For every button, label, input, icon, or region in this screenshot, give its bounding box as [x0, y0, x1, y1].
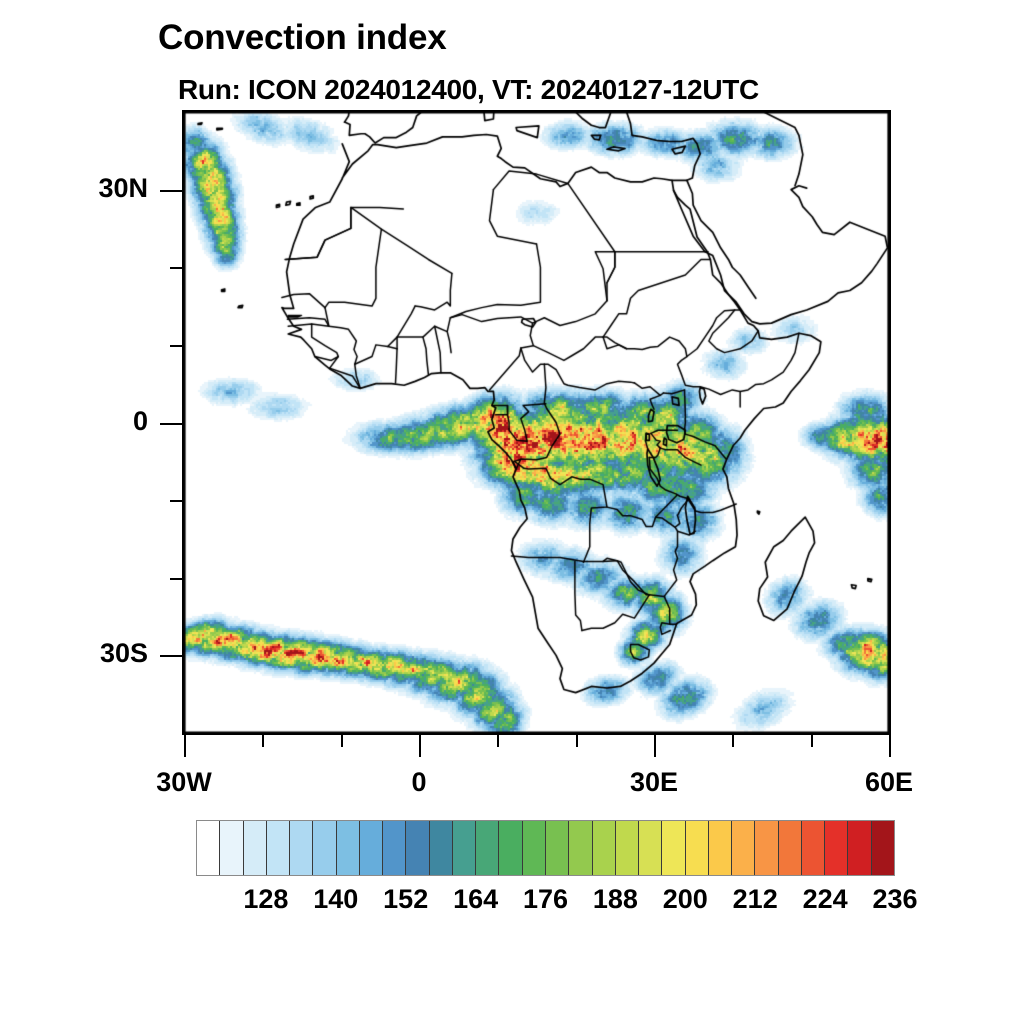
run-valid-time-subtitle: Run: ICON 2024012400, VT: 20240127-12UTC: [178, 74, 759, 106]
colorbar-cell: [709, 821, 732, 875]
y-tick: [160, 655, 182, 657]
x-tick: [889, 735, 891, 757]
x-tick: [262, 735, 264, 747]
colorbar-cell: [755, 821, 778, 875]
y-axis-label-30n: 30N: [28, 173, 148, 204]
colorbar: [196, 820, 895, 876]
x-tick: [732, 735, 734, 747]
colorbar-cell: [802, 821, 825, 875]
colorbar-cell: [662, 821, 685, 875]
convection-index-raster: [184, 112, 889, 733]
x-axis-label-30e: 30E: [594, 767, 714, 798]
colorbar-cells: [196, 820, 895, 876]
colorbar-cell: [313, 821, 336, 875]
colorbar-cell: [848, 821, 871, 875]
page-title: Convection index: [158, 18, 447, 58]
colorbar-cell: [337, 821, 360, 875]
colorbar-cell: [732, 821, 755, 875]
colorbar-cell: [523, 821, 546, 875]
y-tick: [170, 267, 182, 269]
colorbar-cell: [616, 821, 639, 875]
x-axis-label-0: 0: [359, 767, 479, 798]
y-tick: [160, 190, 182, 192]
colorbar-cell: [686, 821, 709, 875]
colorbar-cell: [639, 821, 662, 875]
colorbar-cell: [383, 821, 406, 875]
map-plot-area: [182, 110, 891, 735]
colorbar-cell: [197, 821, 220, 875]
y-tick: [170, 500, 182, 502]
x-tick: [811, 735, 813, 747]
y-tick: [160, 423, 182, 425]
colorbar-cell: [569, 821, 592, 875]
colorbar-cell: [476, 821, 499, 875]
colorbar-cell: [593, 821, 616, 875]
colorbar-cell: [779, 821, 802, 875]
convection-index-chart: Convection index Run: ICON 2024012400, V…: [0, 0, 1024, 1024]
colorbar-cell: [872, 821, 894, 875]
colorbar-cell: [360, 821, 383, 875]
y-tick: [170, 345, 182, 347]
colorbar-cell: [825, 821, 848, 875]
y-axis-label-0: 0: [28, 406, 148, 437]
colorbar-cell: [244, 821, 267, 875]
x-axis-label-60e: 60E: [829, 767, 949, 798]
colorbar-cell: [267, 821, 290, 875]
colorbar-cell: [546, 821, 569, 875]
colorbar-cell: [499, 821, 522, 875]
x-tick: [654, 735, 656, 757]
colorbar-cell: [290, 821, 313, 875]
x-axis-label-30w: 30W: [124, 767, 244, 798]
x-tick: [576, 735, 578, 747]
x-tick: [341, 735, 343, 747]
colorbar-cell: [406, 821, 429, 875]
x-tick: [497, 735, 499, 747]
y-tick: [170, 578, 182, 580]
colorbar-cell: [220, 821, 243, 875]
x-tick: [419, 735, 421, 757]
colorbar-cell: [453, 821, 476, 875]
colorbar-cell: [430, 821, 453, 875]
colorbar-label-236: 236: [850, 884, 940, 915]
y-axis-label-30s: 30S: [28, 638, 148, 669]
x-tick: [184, 735, 186, 757]
